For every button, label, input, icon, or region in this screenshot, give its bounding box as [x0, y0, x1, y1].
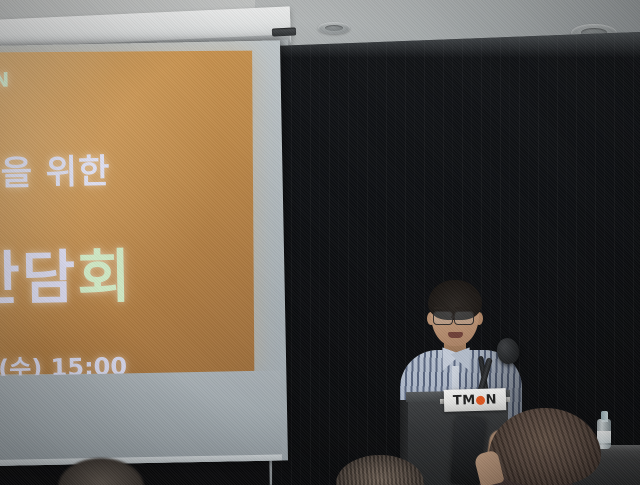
slide-headline-line2: 간담회 — [0, 229, 133, 316]
glasses-bridge-icon — [451, 316, 455, 318]
audience-right-hair-texture — [489, 408, 601, 485]
speaker-eyebrow-right — [455, 307, 470, 309]
projection-screen: ON 화을 위한 간담회 일(수) 15:00 — [0, 40, 288, 466]
projected-slide — [0, 51, 254, 375]
tmon-logo-suffix: N — [486, 393, 498, 406]
slide-line2-green: 회 — [77, 242, 134, 311]
slide-line2-white: 간담 — [0, 243, 78, 313]
audience-member-right — [489, 408, 601, 485]
speaker-mouth — [448, 332, 463, 338]
housing-slot-icon — [272, 27, 296, 36]
ceiling-speaker-icon — [318, 22, 350, 34]
tmon-logo-prefix: TM — [453, 393, 476, 407]
slide-headline-line1: 화을 위한 — [0, 144, 111, 196]
conference-photo-scene: ON 화을 위한 간담회 일(수) 15:00 — [0, 0, 640, 485]
bottle-cap — [601, 411, 608, 420]
speaker-eyebrow-left — [434, 307, 449, 309]
slide-brand-logo: ON — [0, 68, 11, 93]
tmon-logo: TMN — [453, 393, 498, 407]
screen-blank-area — [0, 370, 282, 465]
slide-line1-rest: 을 위한 — [0, 152, 110, 194]
tmon-logo-dot-icon — [476, 395, 485, 404]
glasses-lens-left-icon — [433, 311, 453, 325]
glasses-lens-right-icon — [454, 311, 474, 325]
